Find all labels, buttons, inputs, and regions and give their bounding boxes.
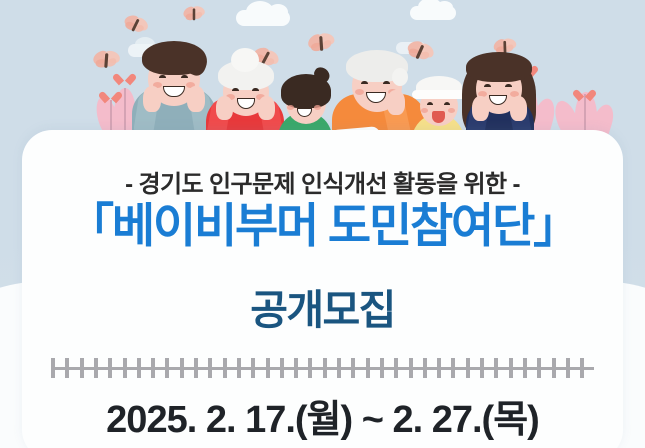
ruler-tick [552, 358, 556, 378]
tagline-text: - 경기도 인구문제 인식개선 활동을 위한 - [22, 164, 623, 199]
ruler-tick [280, 358, 284, 378]
ruler-tick [123, 358, 127, 378]
ruler-divider [51, 358, 594, 378]
ruler-tick [65, 358, 69, 378]
ruler-tick [494, 358, 498, 378]
date-range-text: 2025. 2. 17.(월) ~ 2. 27.(목) [22, 388, 623, 443]
ruler-tick [394, 358, 398, 378]
promotional-poster: - 경기도 인구문제 인식개선 활동을 위한 - 「베이비부머 도민참여단」 공… [0, 0, 645, 448]
ruler-tick [223, 358, 227, 378]
ruler-tick [509, 358, 513, 378]
ruler-tick [308, 358, 312, 378]
ruler-tick [294, 358, 298, 378]
ruler-tick [165, 358, 169, 378]
ruler-tick [480, 358, 484, 378]
ruler-tick [409, 358, 413, 378]
ruler-tick [237, 358, 241, 378]
ruler-tick [94, 358, 98, 378]
ruler-tick [266, 358, 270, 378]
ruler-tick [80, 358, 84, 378]
ruler-tick [151, 358, 155, 378]
ruler-tick [194, 358, 198, 378]
ruler-tick [523, 358, 527, 378]
ruler-tick [108, 358, 112, 378]
ruler-tick [580, 358, 584, 378]
ruler-tick [366, 358, 370, 378]
ruler-tick [380, 358, 384, 378]
subtitle-text: 공개모집 [22, 290, 623, 331]
ruler-tick [451, 358, 455, 378]
ruler-tick [251, 358, 255, 378]
ruler-tick [137, 358, 141, 378]
ruler-tick [437, 358, 441, 378]
ruler-tick [423, 358, 427, 378]
ruler-tick [323, 358, 327, 378]
ruler-tick [537, 358, 541, 378]
ruler-tick [337, 358, 341, 378]
ruler-tick [180, 358, 184, 378]
content-card: - 경기도 인구문제 인식개선 활동을 위한 - 「베이비부머 도민참여단」 공… [22, 130, 623, 448]
page-title: 「베이비부머 도민참여단」 [22, 202, 623, 249]
ruler-tick [566, 358, 570, 378]
ruler-tick [51, 358, 55, 378]
ruler-tick [466, 358, 470, 378]
cloud-icon [410, 6, 456, 20]
cloud-icon [236, 10, 290, 26]
ruler-tick [351, 358, 355, 378]
ruler-tick [208, 358, 212, 378]
